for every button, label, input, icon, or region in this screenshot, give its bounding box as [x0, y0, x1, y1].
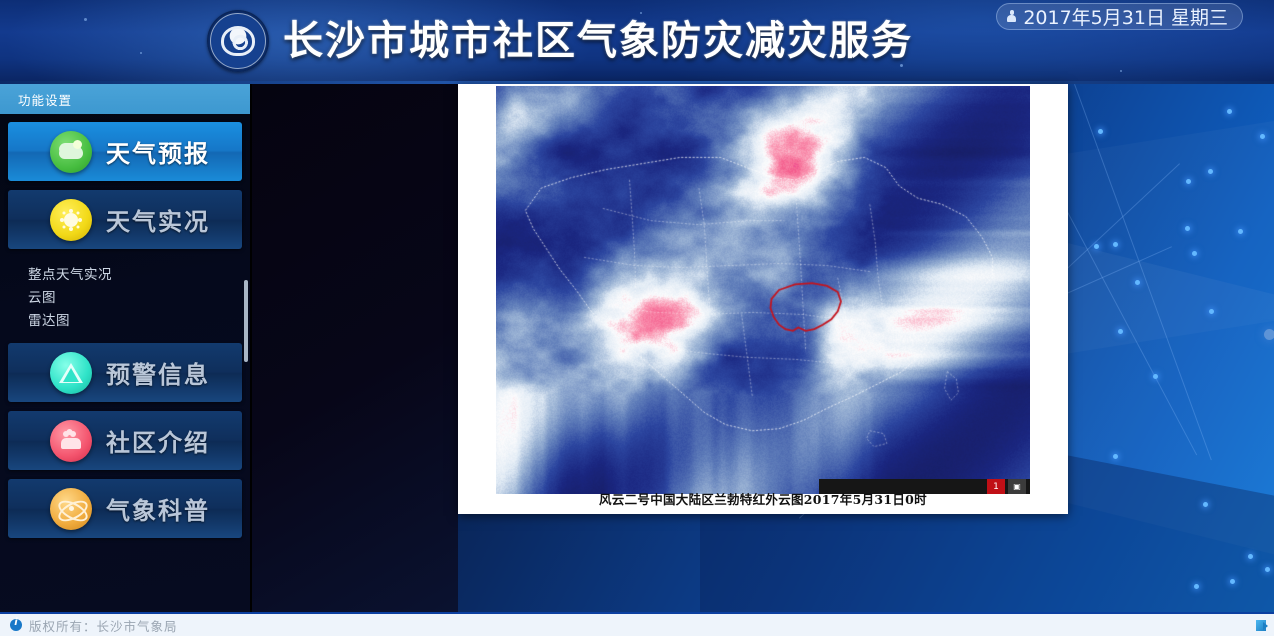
bg-dot — [1118, 329, 1123, 334]
sidebar-item-label: 气象科普 — [106, 491, 210, 526]
bg-dot — [1238, 229, 1243, 234]
bg-dot — [1227, 109, 1232, 114]
bg-dot — [1153, 374, 1158, 379]
sidebar-item-label: 天气预报 — [106, 134, 210, 169]
cma-emblem-icon — [207, 10, 269, 72]
satellite-image-caption: 风云二号中国大陆区兰勃特红外云图2017年5月31日0时 — [458, 489, 1068, 508]
header-spark — [84, 18, 87, 21]
sidebar-item-label: 预警信息 — [106, 355, 210, 390]
sidebar-item-community-intro[interactable]: 社区介绍 — [8, 411, 242, 470]
bg-dot — [1113, 454, 1118, 459]
app-root: 长沙市城市社区气象防灾减灾服务 2017年5月31日 星期三 — [0, 0, 1274, 636]
bg-dot — [1203, 502, 1208, 507]
submenu-item-cloud-map[interactable]: 云图 — [0, 287, 250, 310]
bg-dot — [1186, 179, 1191, 184]
person-icon — [1007, 10, 1016, 23]
warning-triangle-icon — [50, 352, 92, 394]
app-header: 长沙市城市社区气象防灾减灾服务 2017年5月31日 星期三 — [0, 0, 1274, 84]
emblem-swirl — [221, 26, 255, 56]
bg-dot — [1113, 242, 1118, 247]
sidebar-scroll-area[interactable]: 天气预报 天气实况 整点天气实况 云图 雷达图 预警信息 社区介绍 — [0, 114, 250, 612]
info-icon — [10, 619, 22, 631]
footer-copyright-text: 版权所有：长沙市气象局 — [29, 616, 178, 635]
atom-core — [69, 506, 74, 511]
people-group-icon — [50, 420, 92, 462]
date-badge: 2017年5月31日 星期三 — [996, 3, 1243, 30]
bg-dot — [1185, 226, 1190, 231]
bg-dot — [1094, 244, 1099, 249]
bg-dot — [1194, 584, 1199, 589]
header-spark — [1120, 70, 1122, 72]
sidebar-item-weather-forecast[interactable]: 天气预报 — [8, 122, 242, 181]
bg-dot — [1208, 169, 1213, 174]
submenu-item-radar-map[interactable]: 雷达图 — [0, 310, 250, 333]
resize-grip-icon[interactable] — [1256, 620, 1266, 631]
sidebar: 功能设置 天气预报 天气实况 整点天气实况 云图 雷达图 预警信息 — [0, 84, 252, 612]
cloud-rain-icon — [50, 131, 92, 173]
bg-dot — [1192, 251, 1197, 256]
sidebar-item-meteorology-science[interactable]: 气象科普 — [8, 479, 242, 538]
submenu-item-hourly-observation[interactable]: 整点天气实况 — [0, 264, 250, 287]
bg-dot — [1248, 554, 1253, 559]
page-title: 长沙市城市社区气象防灾减灾服务 — [283, 11, 913, 71]
bg-dot — [1098, 129, 1103, 134]
atom-icon — [50, 488, 92, 530]
sidebar-panel-title: 功能设置 — [0, 84, 250, 114]
date-text: 2017年5月31日 星期三 — [1023, 3, 1228, 30]
bg-dot — [1260, 134, 1265, 139]
dark-backdrop-pane — [252, 84, 458, 612]
sidebar-scrollbar[interactable] — [244, 280, 248, 362]
sidebar-item-warning-info[interactable]: 预警信息 — [8, 343, 242, 402]
bg-dot — [1265, 567, 1270, 572]
content-panel: 1 ▣ 风云二号中国大陆区兰勃特红外云图2017年5月31日0时 — [458, 84, 1068, 514]
sun-icon — [50, 199, 92, 241]
satellite-image[interactable]: 1 ▣ — [496, 86, 1030, 494]
footer: 版权所有：长沙市气象局 — [0, 612, 1274, 636]
bg-dot — [1209, 309, 1214, 314]
sidebar-item-weather-live[interactable]: 天气实况 — [8, 190, 242, 249]
sidebar-item-label: 天气实况 — [106, 202, 210, 237]
bg-dot — [1135, 280, 1140, 285]
sidebar-submenu: 整点天气实况 云图 雷达图 — [0, 258, 250, 343]
header-spark — [140, 52, 142, 54]
satellite-image-canvas — [496, 86, 1030, 494]
bg-dot — [1230, 579, 1235, 584]
sidebar-item-label: 社区介绍 — [106, 423, 210, 458]
bg-node — [1264, 329, 1274, 340]
